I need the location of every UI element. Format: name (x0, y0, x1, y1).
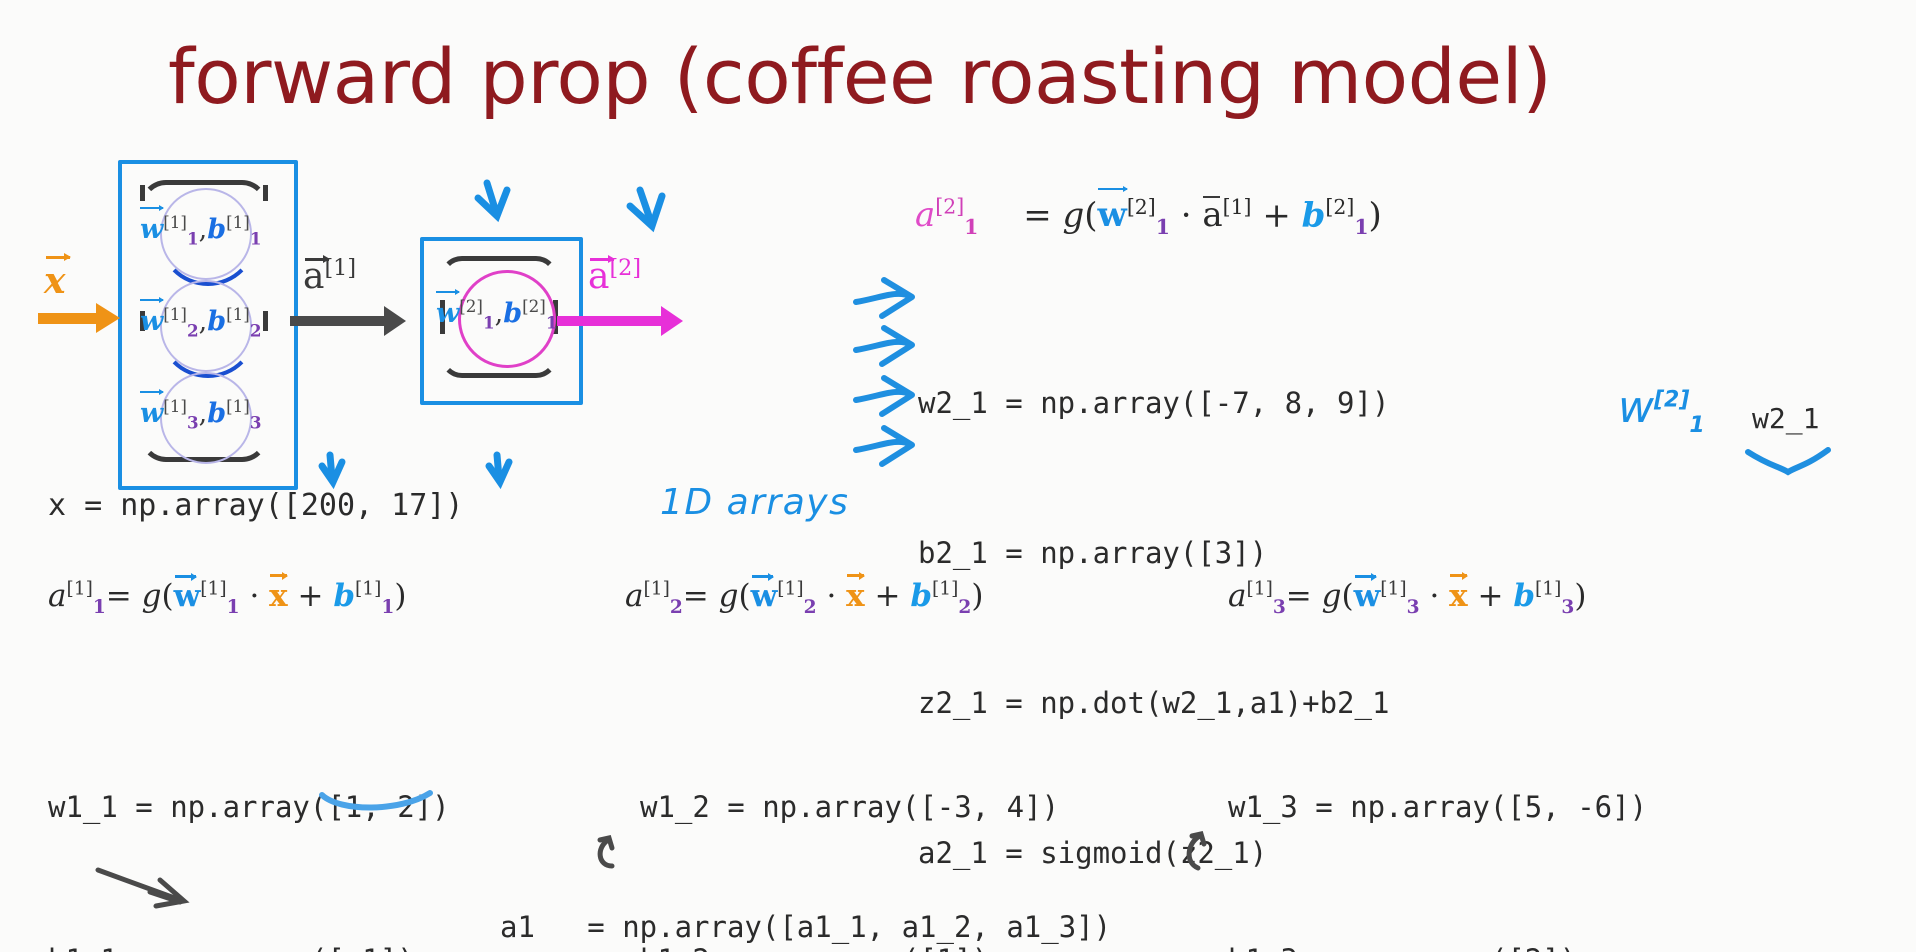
vector-arrow-icon (1203, 196, 1220, 198)
b-symbol: b (1302, 195, 1326, 235)
annotation-squiggle-arrow-2 (856, 328, 912, 364)
w-superscript: [2] (459, 296, 483, 316)
annotation-1d-arrays: 1D arrays (660, 482, 849, 523)
vector-arrow-icon (752, 575, 773, 578)
w-symbol: w (174, 578, 201, 614)
code-line: b2_1 = np.array([3]) (918, 528, 1389, 578)
close-paren: ) (1369, 195, 1382, 235)
comma: , (495, 298, 504, 329)
code-line: w2_1 = np.array([-7, 8, 9]) (918, 378, 1389, 428)
b-subscript: 1 (250, 228, 262, 248)
code-line: w1_2 = np.array([-3, 4]) (640, 782, 1094, 833)
open-paren: ( (1341, 578, 1353, 614)
layer1-equation-1: a[1]1= g(w[1]1 · x + b[1]1) (48, 578, 406, 618)
input-vector-label: x (44, 260, 65, 302)
a1-aggregate-code-line: a1 = np.array([a1_1, a1_2, a1_3]) (500, 910, 1111, 944)
b-symbol: b (503, 298, 522, 329)
a1-vector-label: a[1] (303, 255, 356, 297)
eq-sign: = (1286, 578, 1312, 614)
vector-arrow-icon (175, 575, 196, 578)
open-paren: ( (161, 578, 173, 614)
layer1-neuron-3-label: w[1]3,b[1]3 (140, 396, 261, 432)
b-superscript: [2] (522, 296, 546, 316)
w-superscript: [1] (163, 304, 187, 324)
annotation-squiggle-arrow-3 (856, 378, 912, 414)
output-equation: a[2]1 = g(w[2]1 · a[1] + b[2]1) (915, 195, 1382, 239)
eq-sign: = (1023, 195, 1052, 235)
annotation-w2-1-label: w2_1 (1752, 402, 1819, 435)
w-symbol: w (1354, 578, 1381, 614)
layer1-equation-2: a[1]2= g(w[1]2 · x + b[1]2) (625, 578, 983, 618)
b-symbol: b (910, 578, 932, 614)
w-subscript: 1 (1156, 215, 1170, 239)
code-line: w1_1 = np.array([1, 2]) (48, 782, 502, 833)
layer1-neuron-1-label: w[1]1,b[1]1 (140, 212, 261, 248)
w-subscript: 3 (187, 412, 199, 432)
vector-arrow-icon (140, 391, 163, 393)
w-subscript: 1 (483, 312, 495, 332)
a2-arrow-head-icon (661, 306, 683, 336)
comma: , (199, 398, 208, 429)
w-superscript: [1] (163, 212, 187, 232)
dot-product-operator: · (249, 578, 259, 614)
plus-operator: + (1262, 195, 1291, 235)
activation-fn: g (719, 578, 739, 614)
activation-fn: g (1322, 578, 1342, 614)
w-subscript: 2 (187, 320, 199, 340)
annotation-arrow-down-3 (322, 455, 342, 482)
b-symbol: b (1513, 578, 1535, 614)
input-arrow-shaft (38, 313, 100, 324)
dot-product-operator: · (826, 578, 836, 614)
code-line: b1_1 = np.array([-1]) (48, 935, 502, 952)
w-subscript: 1 (187, 228, 199, 248)
eq-lhs: a[1]1 (48, 578, 106, 614)
code-line: w1_3 = np.array([5, -6]) (1228, 782, 1682, 833)
a-symbol: a (1202, 195, 1222, 235)
w-symbol: w (140, 214, 163, 245)
w-symbol: w (140, 306, 163, 337)
annotation-handwritten-w: w[2]1 (1618, 382, 1705, 438)
layer1-neuron-2-label: w[1]2,b[1]2 (140, 304, 261, 340)
annotation-hook-arrow-1 (600, 838, 612, 866)
page-title: forward prop (coffee roasting model) (168, 32, 1551, 121)
b-superscript: [1] (226, 304, 250, 324)
annotation-squiggle-arrow-1 (856, 280, 912, 316)
w-symbol: w (1098, 195, 1127, 235)
plus-operator: + (298, 578, 324, 614)
w-symbol: w (751, 578, 778, 614)
a-superscript: [1] (1223, 195, 1252, 219)
slide-canvas: forward prop (coffee roasting model) w[1… (0, 0, 1916, 952)
vector-arrow-icon (1450, 574, 1467, 577)
close-paren: ) (1574, 578, 1586, 614)
annotation-arrow-down-1 (478, 183, 507, 216)
b-subscript: 1 (546, 312, 558, 332)
stack-notch-right (263, 185, 268, 201)
unit-1-code-block: w1_1 = np.array([1, 2]) b1_1 = np.array(… (48, 680, 502, 952)
open-paren: ( (738, 578, 750, 614)
layer1-equation-3: a[1]3= g(w[1]3 · x + b[1]3) (1228, 578, 1586, 618)
b-superscript: [1] (226, 212, 250, 232)
a1-arrow-head-icon (384, 306, 406, 336)
plus-operator: + (1478, 578, 1504, 614)
x-symbol: x (1449, 578, 1467, 614)
w-superscript: [2] (1127, 195, 1156, 219)
vector-arrow-icon (140, 299, 163, 301)
b-subscript: 1 (1354, 215, 1368, 239)
annotation-squiggle-arrow-4 (856, 428, 912, 464)
a2-vector-label: a[2] (588, 255, 641, 297)
vector-arrow-icon (305, 258, 329, 261)
b-symbol: b (207, 398, 226, 429)
a1-arrow-shaft (290, 316, 388, 326)
open-paren: ( (1084, 195, 1097, 235)
annotation-arrow-down-4 (489, 455, 509, 482)
b-symbol: b (333, 578, 355, 614)
b-subscript: 3 (250, 412, 262, 432)
b-superscript: [2] (1325, 195, 1354, 219)
layer2-neuron-1-label: w[2]1,b[2]1 (436, 296, 557, 332)
plus-operator: + (875, 578, 901, 614)
eq-lhs: a[2]1 (915, 195, 978, 235)
x-symbol: x (269, 578, 287, 614)
w-symbol: w (140, 398, 163, 429)
close-paren: ) (394, 578, 406, 614)
vector-arrow-icon (46, 256, 70, 259)
vector-arrow-icon (1098, 188, 1127, 190)
b-symbol: b (207, 214, 226, 245)
comma: , (199, 214, 208, 245)
comma: , (199, 306, 208, 337)
b-superscript: [1] (226, 396, 250, 416)
eq-lhs: a[1]2 (625, 578, 683, 614)
input-code-line: x = np.array([200, 17]) (48, 488, 463, 523)
stack-notch-left (140, 185, 145, 201)
x-symbol: x (846, 578, 864, 614)
dot-product-operator: · (1429, 578, 1439, 614)
close-paren: ) (971, 578, 983, 614)
w-symbol: w (436, 298, 459, 329)
eq-sign: = (106, 578, 132, 614)
eq-lhs: a[1]3 (1228, 578, 1286, 614)
eq-sign: = (683, 578, 709, 614)
activation-fn: g (1063, 195, 1085, 235)
vector-arrow-icon (140, 207, 163, 209)
annotation-underbrace-w2-1 (1748, 450, 1828, 472)
w-superscript: [1] (163, 396, 187, 416)
annotation-arrow-down-2 (630, 190, 662, 226)
input-arrow-head-icon (96, 303, 120, 333)
vector-arrow-icon (436, 291, 459, 293)
activation-fn: g (142, 578, 162, 614)
vector-arrow-icon (847, 574, 864, 577)
b-subscript: 2 (250, 320, 262, 340)
code-line: b1_3 = np.array([2]) (1228, 935, 1682, 952)
dot-product-operator: · (1181, 195, 1192, 235)
a2-arrow-shaft (557, 316, 665, 326)
vector-arrow-icon (1355, 575, 1376, 578)
b-symbol: b (207, 306, 226, 337)
vector-arrow-icon (590, 258, 614, 261)
unit-3-code-block: w1_3 = np.array([5, -6]) b1_3 = np.array… (1228, 680, 1682, 952)
vector-arrow-icon (270, 574, 287, 577)
